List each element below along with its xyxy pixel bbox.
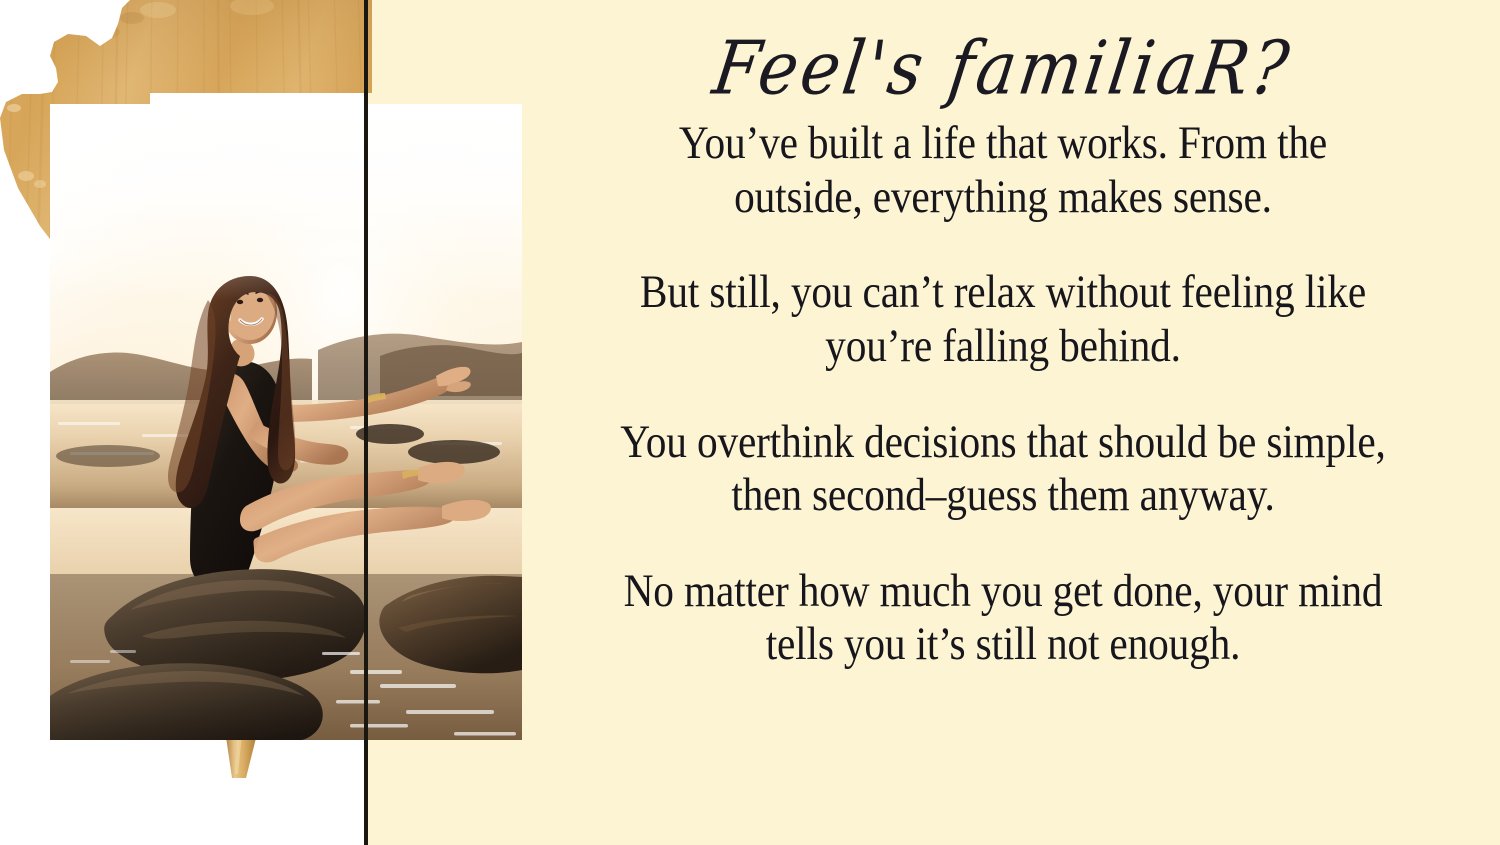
body-copy: You’ve built a life that works. From the… bbox=[615, 117, 1389, 672]
paragraph-3: You overthink decisions that should be s… bbox=[615, 416, 1389, 523]
photo-image bbox=[50, 104, 522, 740]
text-column: Feel's familiaR? You’ve built a life tha… bbox=[545, 0, 1460, 845]
vertical-divider bbox=[364, 0, 368, 845]
photo-card bbox=[50, 104, 522, 740]
gold-stem-icon bbox=[190, 730, 320, 820]
paragraph-2: But still, you can’t relax without feeli… bbox=[615, 266, 1389, 373]
paragraph-1: You’ve built a life that works. From the… bbox=[615, 117, 1389, 224]
paragraph-4: No matter how much you get done, your mi… bbox=[615, 565, 1389, 672]
slide-canvas: Feel's familiaR? You’ve built a life tha… bbox=[0, 0, 1500, 845]
headline-script: Feel's familiaR? bbox=[709, 30, 1296, 108]
